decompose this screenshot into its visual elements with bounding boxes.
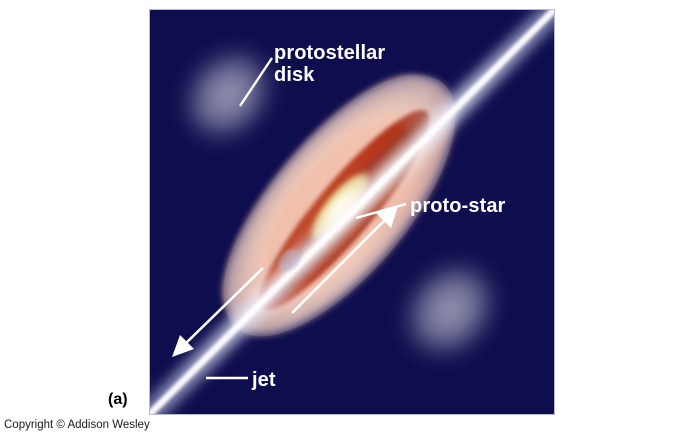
copyright-notice: Copyright © Addison Wesley: [4, 419, 150, 431]
leader-protostellar-disk: [240, 58, 272, 106]
figure: protostellar disk proto-star jet (a) Cop…: [0, 0, 699, 439]
label-protostellar-disk: protostellar disk: [274, 42, 385, 87]
jet-arrow-lower-left: [172, 268, 263, 357]
illustration-panel: protostellar disk proto-star jet: [150, 10, 554, 414]
label-jet: jet: [252, 369, 276, 391]
panel-caption: (a): [108, 391, 128, 409]
jet-arrow-upper-right: [292, 206, 398, 313]
label-proto-star: proto-star: [410, 195, 505, 217]
